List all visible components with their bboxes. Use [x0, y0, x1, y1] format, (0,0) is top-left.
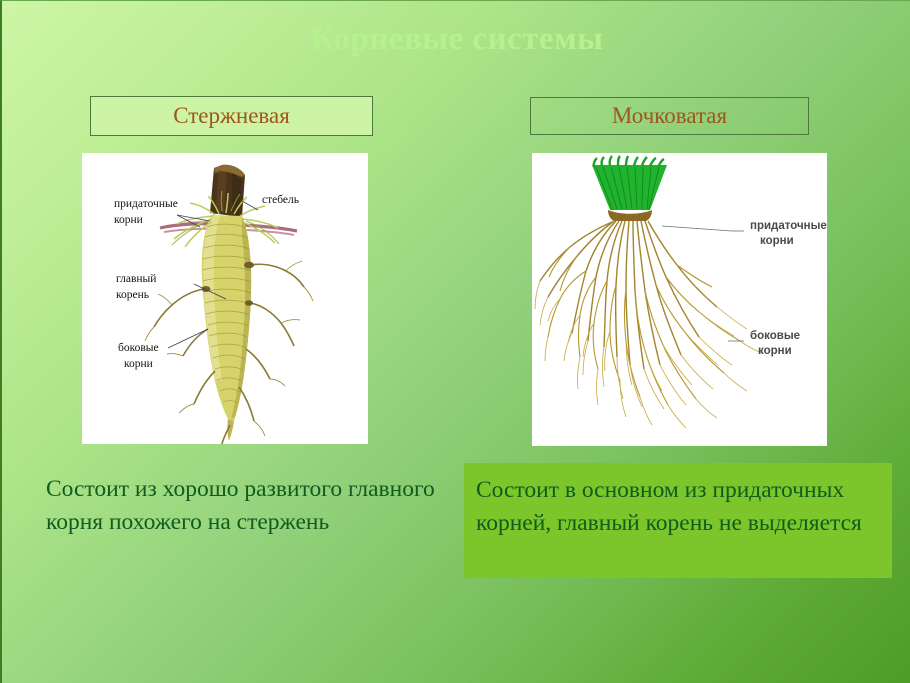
fig-label-lateral-2: корни — [124, 358, 153, 370]
figure-panel-fibrous: придаточные корни боковые корни — [532, 153, 827, 446]
fig-label-lateral-2: корни — [758, 345, 792, 357]
fig-label-main-root-1: главный — [116, 273, 156, 285]
heading-label-taproot: Стержневая — [173, 103, 290, 129]
heading-label-fibrous: Мочковатая — [612, 103, 727, 129]
fig-label-adventitious-1: придаточные — [750, 220, 827, 232]
fig-label-adventitious-1: придаточные — [114, 198, 178, 210]
heading-box-fibrous: Мочковатая — [530, 97, 809, 135]
fibrous-root-diagram-svg: придаточные корни боковые корни — [532, 153, 827, 446]
taproot-diagram-svg: придаточные корни стебель главный корень… — [82, 153, 368, 444]
fig-label-lateral-1: боковые — [118, 342, 159, 354]
fig-label-main-root-2: корень — [116, 289, 149, 301]
caption-fibrous: Состоит в основном из придаточных корней… — [464, 463, 892, 578]
heading-box-taproot: Стержневая — [90, 96, 373, 136]
stem-shape — [210, 165, 245, 217]
fig-label-stem: стебель — [262, 194, 299, 206]
fig-label-adventitious-2: корни — [760, 235, 794, 247]
page-title: Корневые системы — [2, 21, 910, 58]
caption-taproot: Состоит из хорошо развитого главного кор… — [46, 473, 446, 539]
fig-label-adventitious-2: корни — [114, 214, 143, 226]
fig-label-lateral-1: боковые — [750, 330, 800, 342]
figure-panel-taproot: придаточные корни стебель главный корень… — [82, 153, 368, 444]
slide-canvas: Корневые системы Стержневая Мочковатая — [0, 0, 910, 683]
